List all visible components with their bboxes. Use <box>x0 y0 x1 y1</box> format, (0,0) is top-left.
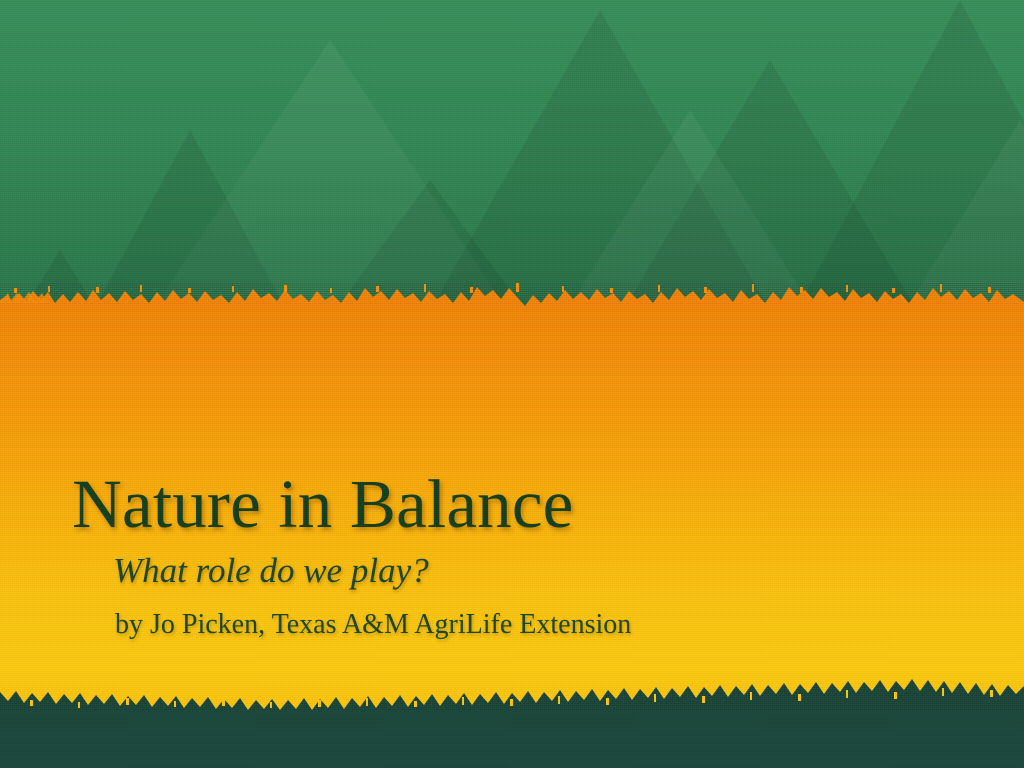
title-text-block: Nature in Balance What role do we play? … <box>0 470 1024 639</box>
slide-byline: by Jo Picken, Texas A&M AgriLife Extensi… <box>0 610 1024 639</box>
slide-subtitle: What role do we play? <box>0 553 1024 590</box>
title-slide: Nature in Balance What role do we play? … <box>0 0 1024 768</box>
page-title: Nature in Balance <box>0 470 1024 539</box>
